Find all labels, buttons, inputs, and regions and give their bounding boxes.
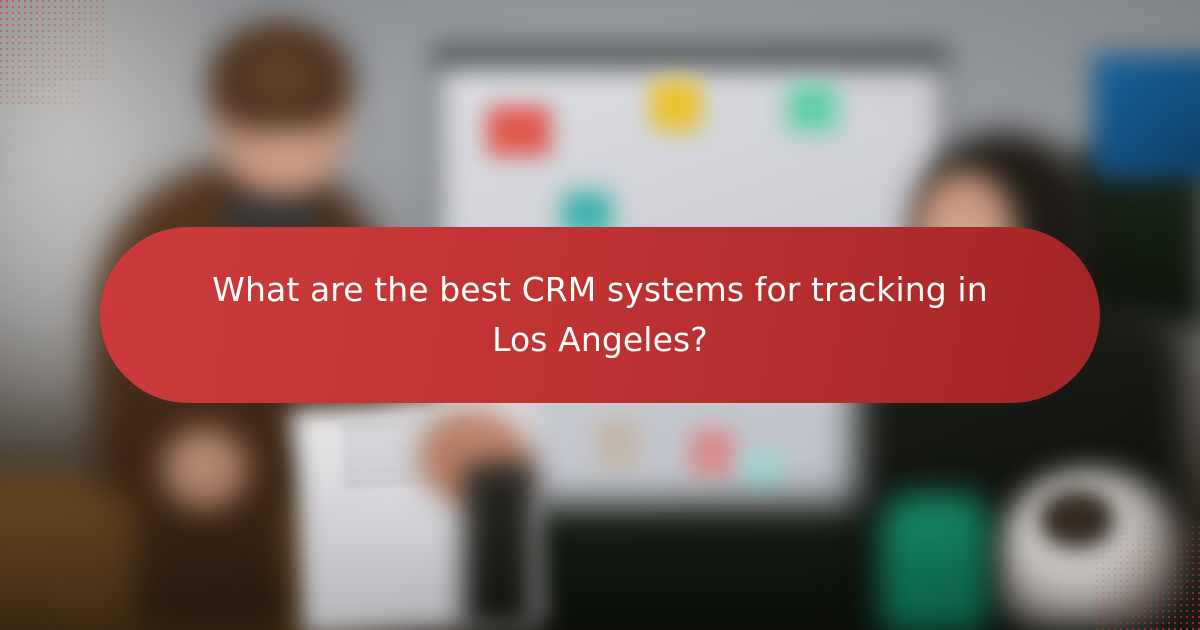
social-share-card: What are the best CRM systems for tracki… <box>0 0 1200 630</box>
headline-text: What are the best CRM systems for tracki… <box>200 265 1000 365</box>
headline-pill: What are the best CRM systems for tracki… <box>100 227 1100 403</box>
